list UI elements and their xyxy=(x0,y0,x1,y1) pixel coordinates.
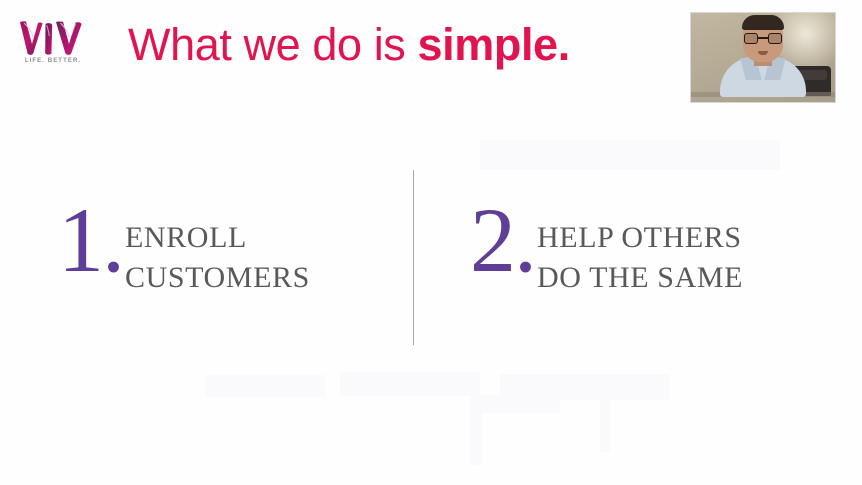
video-presenter-hair xyxy=(742,15,784,30)
presenter-video-feed[interactable] xyxy=(690,12,836,103)
column-divider xyxy=(413,170,414,345)
slide-title-emphasis: simple xyxy=(418,19,558,70)
viv-logo: LIFE. BETTER. xyxy=(18,20,94,78)
presentation-slide: LIFE. BETTER. What we do is simple. 1. E… xyxy=(0,0,862,485)
slide-point-1: 1. ENROLL CUSTOMERS xyxy=(58,200,310,298)
video-presenter-glasses xyxy=(744,33,782,44)
slide-title-lead: What we do is xyxy=(128,19,418,70)
viv-wordmark-icon xyxy=(18,20,88,56)
slide-title-period: . xyxy=(558,19,570,70)
slide-point-2-text: HELP OTHERS DO THE SAME xyxy=(537,218,743,298)
slide-point-2-number: 2. xyxy=(470,194,535,286)
slide-point-2: 2. HELP OTHERS DO THE SAME xyxy=(470,200,743,298)
logo-tagline: LIFE. BETTER. xyxy=(18,58,88,64)
slide-title: What we do is simple. xyxy=(128,17,570,73)
slide-point-1-text: ENROLL CUSTOMERS xyxy=(125,218,310,298)
slide-point-1-number: 1. xyxy=(58,194,123,286)
